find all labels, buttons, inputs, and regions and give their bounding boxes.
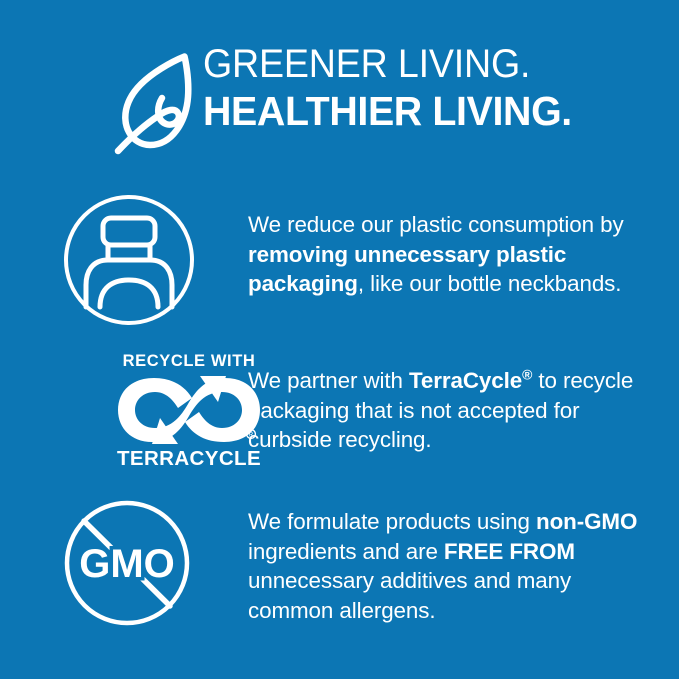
headline-block: GREENER LIVING. HEALTHIER LIVING. — [203, 42, 643, 134]
gmo-label: GMO — [79, 542, 175, 586]
headline-line-2: HEALTHIER LIVING. — [203, 88, 625, 134]
feature-text-gmo: We formulate products using non-GMO ingr… — [248, 507, 660, 625]
no-gmo-icon: GMO — [56, 495, 204, 640]
header: GREENER LIVING. HEALTHIER LIVING. — [0, 42, 679, 162]
terracycle-bottom-label: TERRACYCLE — [114, 447, 264, 470]
greener-living-infographic: GREENER LIVING. HEALTHIER LIVING. — [0, 0, 679, 679]
recycle-infinity-icon: R — [114, 374, 264, 446]
terracycle-top-label: RECYCLE WITH — [114, 352, 264, 371]
feature-text-terracycle: We partner with TerraCycle® to recycle p… — [248, 366, 660, 455]
headline-line-1: GREENER LIVING. — [203, 42, 617, 86]
feature-text-plastic: We reduce our plastic consumption by rem… — [248, 210, 660, 299]
leaf-icon — [110, 50, 206, 158]
bottle-neckband-icon — [56, 190, 204, 335]
